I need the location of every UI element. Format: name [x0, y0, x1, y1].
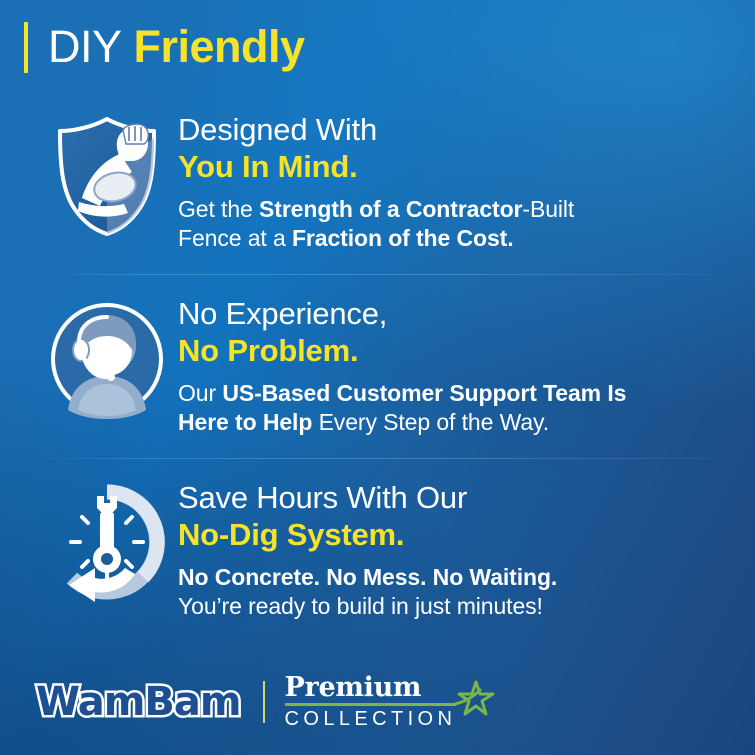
subcopy-part: Get the [178, 196, 259, 222]
section-divider [42, 274, 714, 275]
subcopy-part-bold: Fraction of the Cost. [292, 225, 514, 251]
subcopy-part-bold: No Concrete. No Mess. No Waiting. [178, 564, 557, 590]
shield-muscle-arm-icon [42, 110, 172, 238]
page-header: DIY Friendly [24, 18, 305, 76]
header-accent-bar-icon [24, 22, 28, 73]
feature-headline: No Experience, [178, 296, 626, 332]
subcopy-part: -Built [522, 196, 574, 222]
feature-subcopy-line-1: Get the Strength of a Contractor-Built [178, 195, 574, 224]
subcopy-part: Fence at a [178, 225, 292, 251]
premium-collection-lockup: Premium COLLECTION [285, 674, 491, 730]
subcopy-part-bold: Here to Help [178, 409, 312, 435]
feature-subcopy-line-1: No Concrete. No Mess. No Waiting. [178, 563, 557, 592]
feature-text-block: Designed With You In Mind. Get the Stren… [172, 110, 574, 253]
diy-friendly-promo-poster: DIY Friendly [0, 0, 755, 755]
brand-footer: WamBam Premium COLLECTION [36, 672, 490, 732]
wambam-logo: WamBam [36, 680, 241, 724]
subcopy-part: Our [178, 380, 222, 406]
feature-row-no-dig-system: Save Hours With Our No-Dig System. No Co… [0, 478, 755, 621]
headset-support-agent-icon [42, 294, 172, 420]
feature-headline-accent: No-Dig System. [178, 517, 557, 553]
feature-subcopy-line-1: Our US-Based Customer Support Team Is [178, 379, 626, 408]
subcopy-part: You’re ready to build in just minutes! [178, 593, 543, 619]
clock-wrench-refresh-icon [42, 478, 172, 608]
feature-headline-accent: No Problem. [178, 333, 626, 369]
feature-text-block: Save Hours With Our No-Dig System. No Co… [172, 478, 557, 621]
subcopy-part-bold: US-Based Customer Support Team Is [222, 380, 626, 406]
feature-headline-accent: You In Mind. [178, 149, 574, 185]
feature-text-block: No Experience, No Problem. Our US-Based … [172, 294, 626, 437]
subcopy-part: Every Step of the Way. [312, 409, 549, 435]
page-title: DIY Friendly [48, 22, 305, 72]
premium-label: Premium [285, 674, 457, 702]
green-star-icon [454, 678, 496, 720]
page-title-accent: Friendly [134, 21, 305, 72]
feature-headline: Designed With [178, 112, 574, 148]
feature-subcopy-line-2: You’re ready to build in just minutes! [178, 592, 557, 621]
feature-row-no-experience-no-problem: No Experience, No Problem. Our US-Based … [0, 294, 755, 437]
feature-subcopy-line-2: Here to Help Every Step of the Way. [178, 408, 626, 437]
feature-subcopy-line-2: Fence at a Fraction of the Cost. [178, 224, 574, 253]
feature-row-designed-with-you-in-mind: Designed With You In Mind. Get the Stren… [0, 110, 755, 253]
section-divider [42, 458, 714, 459]
page-title-light: DIY [48, 21, 122, 72]
premium-underline-icon [285, 703, 457, 706]
subcopy-part-bold: Strength of a Contractor [259, 196, 522, 222]
collection-label: COLLECTION [285, 708, 457, 730]
footer-divider [263, 681, 265, 723]
feature-headline: Save Hours With Our [178, 480, 557, 516]
